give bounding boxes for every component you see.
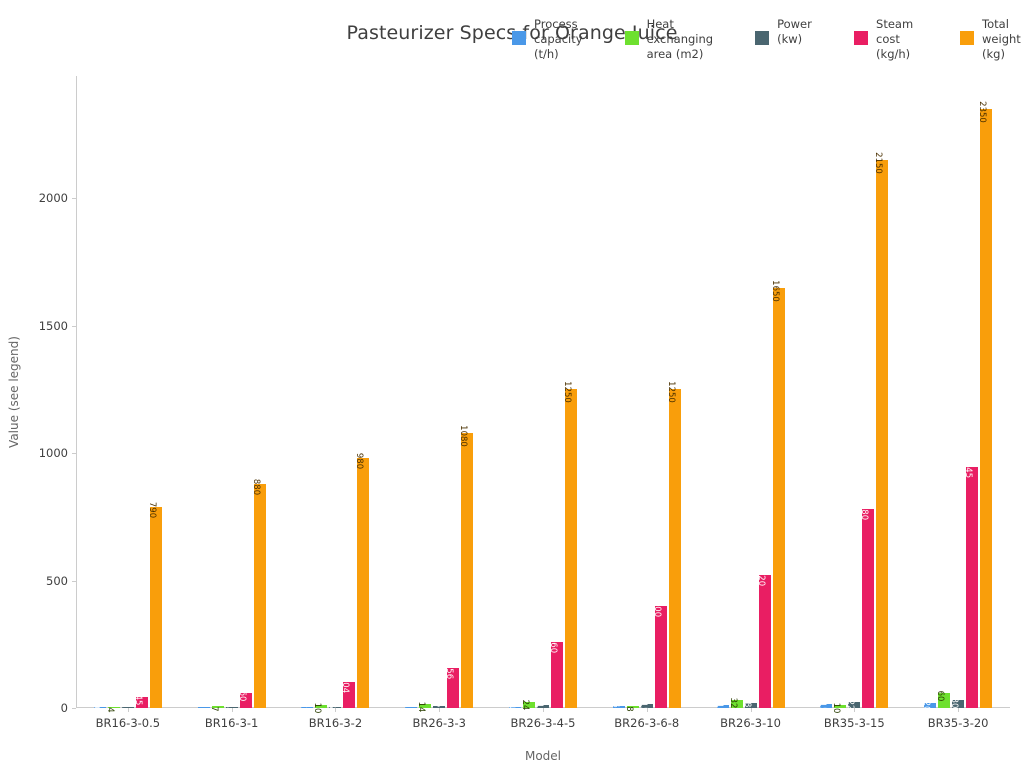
y-axis-tick-label: 0 — [20, 701, 68, 715]
legend-label: Total weight (kg) — [982, 17, 1024, 63]
y-axis-tick-mark — [72, 708, 76, 709]
bar-value-label: 780 — [860, 504, 869, 520]
bar-value-label: 260 — [548, 637, 557, 653]
bar-group: 17460880BR16-3-1 — [180, 76, 284, 708]
bar[interactable]: 2350 — [980, 109, 992, 708]
x-axis-tick-mark — [543, 708, 544, 712]
bar-value-label: 2 — [299, 707, 308, 712]
bar-group: 103218.55201650BR26-3-10 — [699, 76, 803, 708]
legend-swatch-icon — [960, 31, 974, 45]
bar[interactable]: 945 — [966, 467, 978, 708]
bar[interactable]: 30 — [952, 700, 964, 708]
bar-value-label: 20 — [922, 700, 931, 711]
bar-value-label: 8 — [624, 706, 633, 711]
bar-value-label: 104 — [341, 676, 350, 692]
x-axis-label: Model — [525, 749, 561, 763]
y-axis-tick-label: 1000 — [20, 446, 68, 460]
bar-value-label: 10 — [313, 703, 322, 714]
x-axis-tick-mark — [439, 708, 440, 712]
legend-swatch-icon — [512, 31, 526, 45]
legend-label: Heat exchanging area (m2) — [647, 17, 714, 63]
bar-group: 1510227802150BR35-3-15 — [802, 76, 906, 708]
x-axis-tick-label: BR26-3-3 — [412, 716, 465, 730]
x-axis-tick-label: BR26-3-6-8 — [614, 716, 679, 730]
bar-value-label: 945 — [964, 462, 973, 478]
bar-value-label: 4 — [105, 707, 114, 712]
x-axis-tick-mark — [335, 708, 336, 712]
bar-value-label: 2150 — [874, 152, 883, 174]
bar-value-label: 790 — [147, 502, 156, 518]
bar-group: 0.54345790BR16-3-0.5 — [76, 76, 180, 708]
x-axis-tick-label: BR16-3-2 — [309, 716, 362, 730]
bar-value-label: 1080 — [459, 425, 468, 447]
bars-layer: 0.54345790BR16-3-0.517460880BR16-3-12105… — [76, 76, 1010, 708]
bar[interactable]: 1080 — [461, 433, 473, 708]
bar[interactable]: 8 — [627, 706, 639, 708]
x-axis-tick-mark — [751, 708, 752, 712]
bar-value-label: 2350 — [978, 101, 987, 123]
bar-value-label: 32 — [728, 697, 737, 708]
bar-value-label: 24 — [520, 699, 529, 710]
legend-swatch-icon — [625, 31, 639, 45]
bar-group: 2105.5104980BR16-3-2 — [284, 76, 388, 708]
bar-value-label: 156 — [445, 663, 454, 679]
bar-value-label: 15 — [818, 702, 827, 713]
bar[interactable]: 60 — [240, 693, 252, 708]
x-axis-tick-mark — [854, 708, 855, 712]
bar-value-label: 14 — [417, 702, 426, 713]
x-axis-tick-mark — [958, 708, 959, 712]
x-axis-tick-label: BR16-3-0.5 — [96, 716, 160, 730]
bar[interactable]: 1250 — [669, 389, 681, 708]
bar[interactable]: 10 — [717, 705, 729, 708]
bar[interactable]: 156 — [447, 668, 459, 708]
legend-swatch-icon — [755, 31, 769, 45]
bar-value-label: 11 — [534, 703, 543, 714]
x-axis-tick-label: BR16-3-1 — [205, 716, 258, 730]
y-axis-label: Value (see legend) — [7, 336, 21, 448]
bar-value-label: 6.8 — [610, 703, 619, 717]
bar-value-label: 60 — [936, 690, 945, 701]
bar[interactable]: 260 — [551, 642, 563, 708]
bar[interactable]: 2150 — [876, 160, 888, 708]
bar[interactable]: 7 — [212, 706, 224, 708]
bar-value-label: 980 — [355, 453, 364, 469]
bar[interactable]: 32 — [731, 700, 743, 708]
legend-label: Power (kw) — [777, 17, 812, 47]
bar[interactable]: 1650 — [773, 288, 785, 708]
x-axis-tick-label: BR35-3-20 — [928, 716, 989, 730]
bar[interactable]: 400 — [655, 606, 667, 708]
bar-value-label: 400 — [652, 601, 661, 617]
bar-value-label: 15 — [638, 702, 647, 713]
legend-label: Steam cost (kg/h) — [876, 17, 918, 63]
legend-label: Process capacity (t/h) — [534, 17, 583, 63]
y-axis-tick-label: 500 — [20, 574, 68, 588]
y-axis-tick-label: 1500 — [20, 319, 68, 333]
x-axis-tick-mark — [128, 708, 129, 712]
bar[interactable]: 6.8 — [613, 706, 625, 708]
bar-group: 2060309452350BR35-3-20 — [906, 76, 1010, 708]
bar-value-label: 3 — [403, 707, 412, 712]
bar[interactable]: 780 — [862, 509, 874, 708]
bar[interactable]: 520 — [759, 575, 771, 708]
bar[interactable]: 1250 — [565, 389, 577, 708]
bar-value-label: 5.5 — [327, 703, 336, 717]
bar[interactable]: 20 — [924, 703, 936, 708]
bar[interactable]: 45 — [136, 697, 148, 708]
bar[interactable]: 104 — [343, 682, 355, 709]
bar-value-label: 0.5 — [91, 703, 100, 717]
legend-entry[interactable]: Process capacity (t/h) — [512, 17, 583, 63]
legend-entry[interactable]: Total weight (kg) — [960, 17, 1024, 63]
legend-entry[interactable]: Power (kw) — [755, 17, 812, 47]
bar-value-label: 880 — [251, 479, 260, 495]
legend-entry[interactable]: Steam cost (kg/h) — [854, 17, 918, 63]
y-axis-tick-label: 2000 — [20, 191, 68, 205]
bar-value-label: 10 — [714, 703, 723, 714]
bar-value-label: 1250 — [562, 382, 571, 404]
bar[interactable]: 790 — [150, 507, 162, 708]
bar-value-label: 7 — [209, 707, 218, 712]
bar-value-label: 3 — [119, 707, 128, 712]
bar[interactable]: 880 — [254, 484, 266, 708]
bar-value-label: 520 — [756, 570, 765, 586]
x-axis-tick-label: BR26-3-10 — [720, 716, 781, 730]
legend-swatch-icon — [854, 31, 868, 45]
bar[interactable]: 1 — [198, 707, 210, 709]
bar-value-label: 4 — [223, 707, 232, 712]
bar-value-label: 1650 — [770, 280, 779, 302]
bar-value-label: 1 — [195, 707, 204, 712]
bar-value-label: 60 — [237, 690, 246, 701]
chart-legend: Process capacity (t/h)Heat exchanging ar… — [512, 17, 1024, 71]
plot-area: 0500100015002000 0.54345790BR16-3-0.5174… — [76, 76, 1010, 708]
chart-figure: Pasteurizer Specs for Orange Juice Proce… — [0, 0, 1024, 768]
bar-value-label: 22 — [846, 700, 855, 711]
x-axis-tick-mark — [232, 708, 233, 712]
bar-value-label: 18.5 — [742, 697, 751, 716]
bar-value-label: 45 — [133, 694, 142, 705]
bar[interactable]: 980 — [357, 458, 369, 708]
bar-group: 3147.51561080BR26-3-3 — [387, 76, 491, 708]
bar-value-label: 30 — [950, 698, 959, 709]
x-axis-tick-label: BR26-3-4-5 — [511, 716, 576, 730]
bar-group: 4.524112601250BR26-3-4-5 — [491, 76, 595, 708]
bar-value-label: 7.5 — [431, 702, 440, 716]
bar-value-label: 10 — [832, 703, 841, 714]
bar-value-label: 1250 — [666, 382, 675, 404]
x-axis-tick-label: BR35-3-15 — [824, 716, 885, 730]
bar-group: 6.88154001250BR26-3-6-8 — [595, 76, 699, 708]
bar-value-label: 4.5 — [506, 703, 515, 717]
x-axis-tick-mark — [647, 708, 648, 712]
legend-entry[interactable]: Heat exchanging area (m2) — [625, 17, 714, 63]
